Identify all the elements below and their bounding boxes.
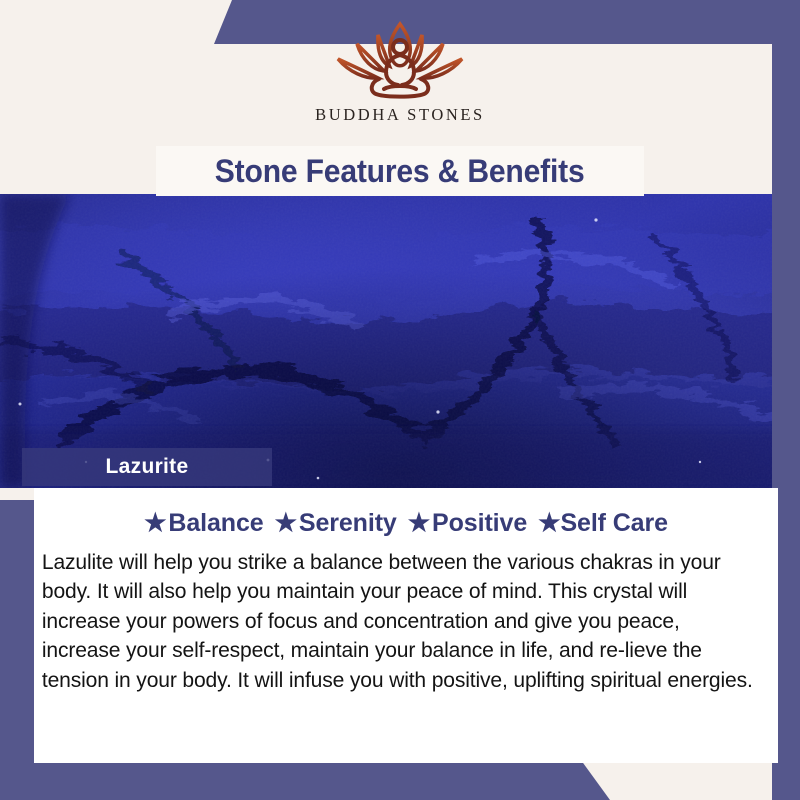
description-paragraph: Lazulite will help you strike a balance … [34,548,767,696]
keyword-self-care: Self Care [560,509,668,538]
brand-logo-block: BUDDHA STONES [0,16,800,125]
stone-name-badge: Lazurite [22,448,272,486]
stone-photo [0,194,800,488]
keyword-list: ★Balance★Serenity★Positive★Self Care [34,508,778,538]
star-icon: ★ [275,511,297,536]
content-card: ★Balance★Serenity★Positive★Self Care Laz… [34,488,778,763]
star-icon: ★ [144,511,166,536]
poster-canvas: BUDDHA STONES [0,0,800,800]
star-icon: ★ [408,511,430,536]
frame-left-lower-band [0,500,34,800]
keyword-serenity: Serenity [299,509,397,538]
keyword-balance: Balance [168,509,263,538]
brand-name: BUDDHA STONES [0,105,800,125]
page-title: Stone Features & Benefits [215,153,585,190]
stone-name-text: Lazurite [106,455,189,479]
keyword-positive: Positive [432,509,527,538]
lotus-buddha-logo-icon [325,16,475,102]
page-title-plaque: Stone Features & Benefits [156,146,644,196]
stone-photo-graphic [0,194,800,488]
star-icon: ★ [538,511,560,536]
